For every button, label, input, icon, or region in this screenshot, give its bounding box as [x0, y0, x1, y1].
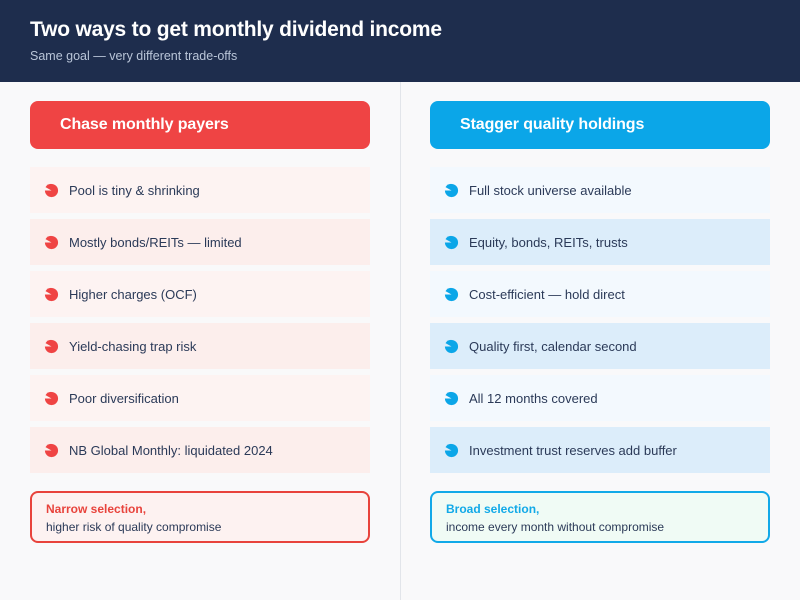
list-item-label: All 12 months covered [469, 390, 770, 407]
pie-chart-icon-red [44, 287, 59, 302]
summary-box-chase-monthly-payers: Narrow selection, higher risk of quality… [30, 491, 370, 543]
list-item[interactable]: Yield-chasing trap risk [30, 323, 370, 369]
pie-chart-icon-red [44, 443, 59, 458]
summary-headline: Narrow selection, [46, 501, 368, 517]
list-item-label: Pool is tiny & shrinking [69, 182, 370, 199]
page-subtitle: Same goal — very different trade-offs [30, 48, 770, 64]
list-item-label: Yield-chasing trap risk [69, 338, 370, 355]
list-item-label: Quality first, calendar second [469, 338, 770, 355]
list-item[interactable]: Equity, bonds, REITs, trusts [430, 219, 770, 265]
column-chase-monthly-payers: Chase monthly payers Pool is tiny & shri… [0, 82, 400, 600]
page-header: Two ways to get monthly dividend income … [0, 0, 800, 82]
pie-chart-icon-blue [444, 183, 459, 198]
column-stagger-quality-holdings: Stagger quality holdings Full stock univ… [400, 82, 800, 600]
list-item[interactable]: Higher charges (OCF) [30, 271, 370, 317]
column-header-stagger-quality-holdings[interactable]: Stagger quality holdings [430, 101, 770, 149]
list-item[interactable]: Pool is tiny & shrinking [30, 167, 370, 213]
list-item[interactable]: NB Global Monthly: liquidated 2024 [30, 427, 370, 473]
pie-chart-icon-blue [444, 235, 459, 250]
pie-chart-icon-blue [444, 443, 459, 458]
list-item[interactable]: All 12 months covered [430, 375, 770, 421]
list-item[interactable]: Investment trust reserves add buffer [430, 427, 770, 473]
list-item[interactable]: Mostly bonds/REITs — limited [30, 219, 370, 265]
list-item-label: Mostly bonds/REITs — limited [69, 234, 370, 251]
list-item-label: Investment trust reserves add buffer [469, 442, 770, 459]
list-item-label: Higher charges (OCF) [69, 286, 370, 303]
pie-chart-icon-blue [444, 391, 459, 406]
page-title: Two ways to get monthly dividend income [30, 17, 770, 43]
item-list-stagger-quality-holdings: Full stock universe available Equity, bo… [430, 167, 770, 473]
pie-chart-icon-red [44, 183, 59, 198]
column-header-label: Stagger quality holdings [460, 116, 644, 134]
list-item-label: Poor diversification [69, 390, 370, 407]
summary-headline: Broad selection, [446, 501, 768, 517]
summary-detail: income every month without compromise [446, 519, 768, 535]
item-list-chase-monthly-payers: Pool is tiny & shrinking Mostly bonds/RE… [30, 167, 370, 473]
pie-chart-icon-blue [444, 339, 459, 354]
list-item-label: Cost-efficient — hold direct [469, 286, 770, 303]
summary-detail: higher risk of quality compromise [46, 519, 368, 535]
column-header-chase-monthly-payers[interactable]: Chase monthly payers [30, 101, 370, 149]
pie-chart-icon-red [44, 339, 59, 354]
pie-chart-icon-red [44, 391, 59, 406]
list-item-label: Equity, bonds, REITs, trusts [469, 234, 770, 251]
summary-box-stagger-quality-holdings: Broad selection, income every month with… [430, 491, 770, 543]
pie-chart-icon-red [44, 235, 59, 250]
list-item[interactable]: Quality first, calendar second [430, 323, 770, 369]
infographic-page: Two ways to get monthly dividend income … [0, 0, 800, 600]
list-item[interactable]: Full stock universe available [430, 167, 770, 213]
list-item[interactable]: Cost-efficient — hold direct [430, 271, 770, 317]
list-item-label: NB Global Monthly: liquidated 2024 [69, 442, 370, 459]
pie-chart-icon-blue [444, 287, 459, 302]
list-item[interactable]: Poor diversification [30, 375, 370, 421]
comparison-columns: Chase monthly payers Pool is tiny & shri… [0, 82, 800, 600]
column-header-label: Chase monthly payers [60, 116, 229, 134]
list-item-label: Full stock universe available [469, 182, 770, 199]
